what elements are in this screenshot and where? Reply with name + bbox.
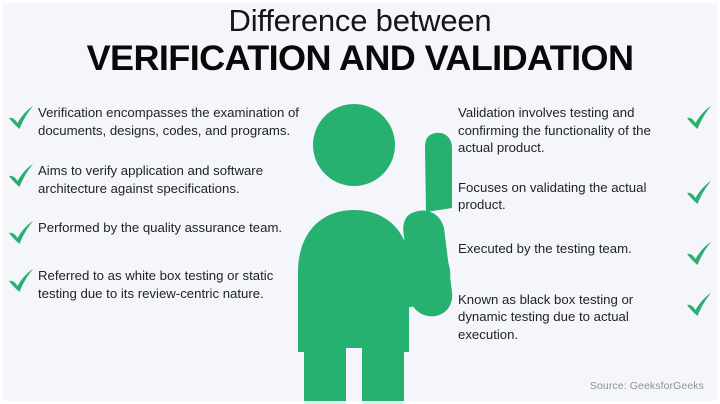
validation-column: Validation involves testing and confirmi… [445,104,714,363]
title-line-1: Difference between [0,4,720,38]
list-item: Focuses on validating the actual product… [445,179,714,214]
list-item-text: Performed by the quality assurance team. [36,219,300,237]
check-icon [6,268,36,294]
list-item: Verification encompasses the examination… [6,104,306,139]
source-attribution: Source: GeeksforGeeks [590,380,704,392]
page-title: Difference between VERIFICATION AND VALI… [0,4,720,79]
verification-column: Verification encompasses the examination… [6,104,306,322]
list-item: Validation involves testing and confirmi… [445,104,714,157]
list-item-text: Focuses on validating the actual product… [458,179,684,214]
check-icon [6,163,36,189]
list-item-text: Known as black box testing or dynamic te… [458,291,684,344]
list-item: Aims to verify application and software … [6,162,306,197]
list-item-text: Referred to as white box testing or stat… [36,267,300,302]
list-item: Known as black box testing or dynamic te… [445,291,714,344]
list-item: Performed by the quality assurance team. [6,219,306,245]
check-icon [684,105,714,131]
check-icon [6,105,36,131]
check-icon [684,241,714,267]
list-item: Executed by the testing team. [445,240,714,266]
check-icon [6,220,36,246]
infographic-poster: Difference between VERIFICATION AND VALI… [0,0,720,404]
list-item-text: Aims to verify application and software … [36,162,300,197]
list-item-text: Verification encompasses the examination… [36,104,300,139]
list-item-text: Validation involves testing and confirmi… [458,104,684,157]
list-item-text: Executed by the testing team. [458,240,684,258]
list-item: Referred to as white box testing or stat… [6,267,306,302]
check-icon [684,292,714,318]
check-icon [684,180,714,206]
person-pointing-up-illustration [292,96,462,404]
title-line-2: VERIFICATION AND VALIDATION [0,39,720,79]
